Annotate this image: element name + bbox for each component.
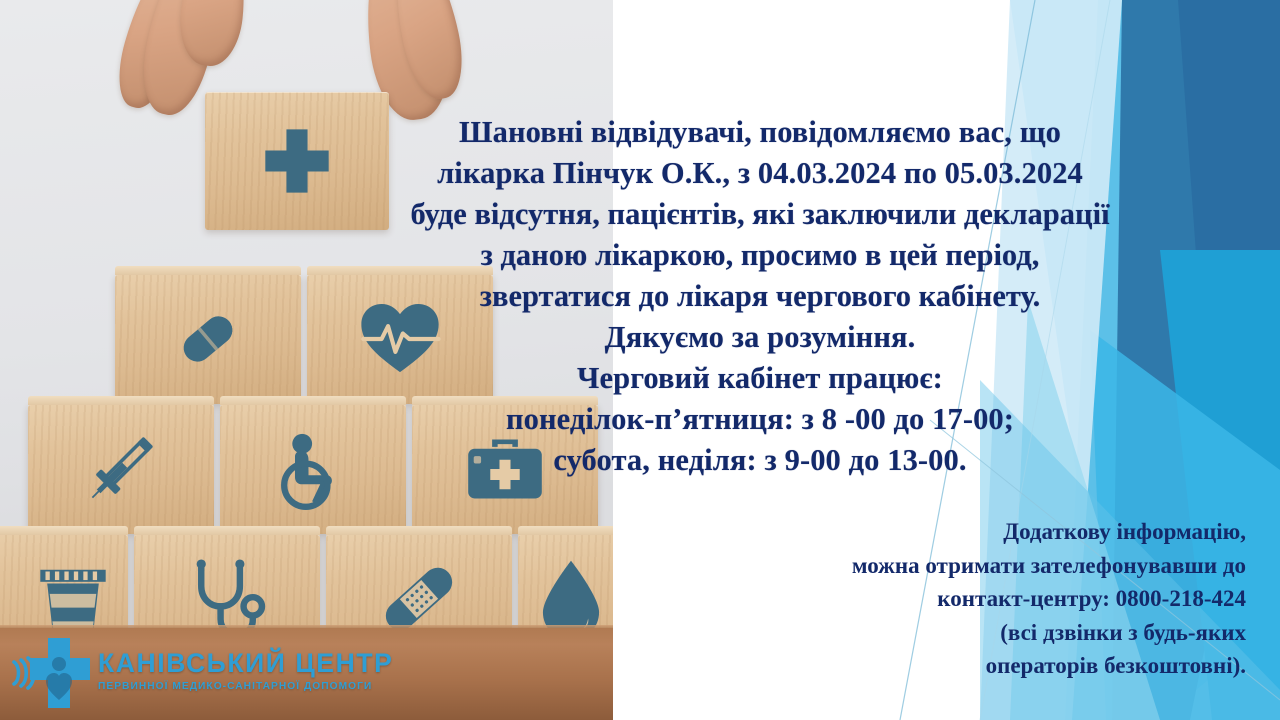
announcement-text: Шановні відвідувачі, повідомляємо вас, щ… [300,112,1220,481]
announcement-line-4: з даною лікаркою, просимо в цей період, [300,235,1220,276]
logo-title: КАНІВСЬКИЙ ЦЕНТР [98,650,393,677]
announcement-slide: Шановні відвідувачі, повідомляємо вас, щ… [0,0,1280,720]
organization-logo: КАНІВСЬКИЙ ЦЕНТР ПЕРВИННОЇ МЕДИКО-САНІТА… [8,634,393,712]
schedule-weekdays: понеділок-п’ятниця: з 8 -00 до 17-00; [300,399,1220,440]
logo-cross-with-person-icon [8,634,94,712]
block-syringe [28,404,214,534]
pill-capsule-icon [115,274,301,404]
announcement-line-7: Черговий кабінет працює: [300,358,1220,399]
contact-line-1: Додаткову інформацію, [686,515,1246,549]
syringe-icon [28,404,214,534]
announcement-line-5: звертатися до лікаря чергового кабінету. [300,276,1220,317]
logo-wordmark: КАНІВСЬКИЙ ЦЕНТР ПЕРВИННОЇ МЕДИКО-САНІТА… [98,650,393,696]
schedule-weekend: субота, неділя: з 9-00 до 13-00. [300,440,1220,481]
announcement-line-1: Шановні відвідувачі, повідомляємо вас, щ… [300,112,1220,153]
announcement-line-3: буде відсутня, пацієнтів, які заключили … [300,194,1220,235]
contact-line-2: можна отримати зателефонувавши до [686,549,1246,583]
logo-subtitle: ПЕРВИННОЇ МЕДИКО-САНІТАРНОЇ ДОПОМОГИ [98,682,393,692]
contact-phone-line: контакт-центру: 0800-218-424 [686,582,1246,616]
contact-line-5: операторів безкоштовні). [686,649,1246,683]
contact-line-4: (всі дзвінки з будь-яких [686,616,1246,650]
contact-info-text: Додаткову інформацію, можна отримати зат… [686,515,1246,683]
block-pill [115,274,301,404]
announcement-line-2: лікарка Пінчук О.К., з 04.03.2024 по 05.… [300,153,1220,194]
announcement-line-6: Дякуємо за розуміння. [300,317,1220,358]
